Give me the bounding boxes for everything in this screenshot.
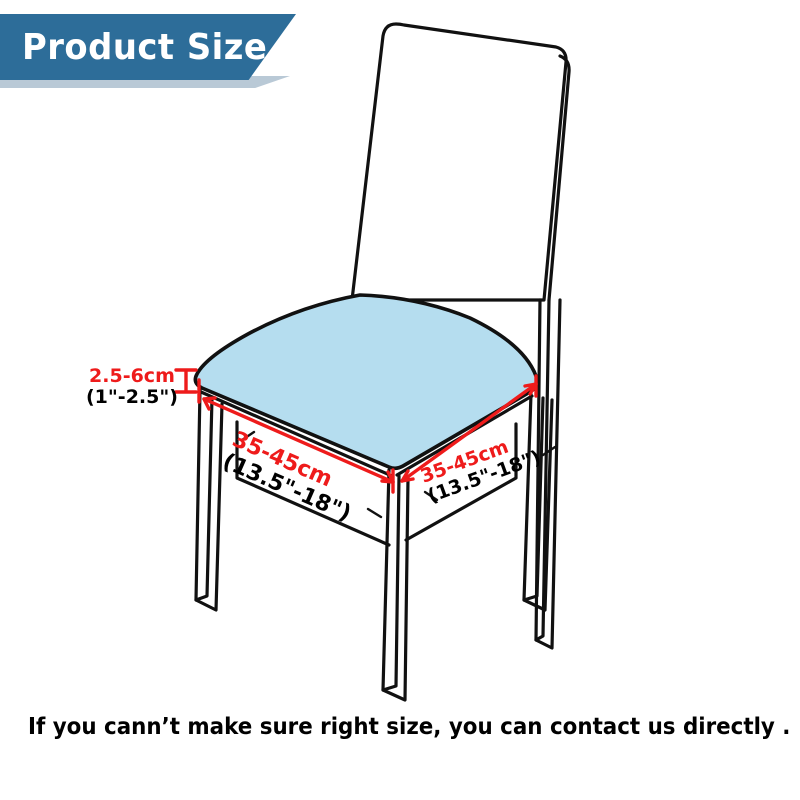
thickness-caliper (176, 370, 196, 392)
thickness-cm-value: 2.5-6cm (86, 366, 178, 387)
chair-backrest-inner-edge (549, 56, 569, 300)
contact-caption: If you cann’t make sure right size, you … (28, 714, 772, 740)
chair-backrest-outline (352, 24, 566, 300)
dimension-label-seat-thickness: 2.5-6cm (1"-2.5") (86, 366, 178, 407)
product-size-infographic: Product Size (0, 0, 800, 800)
width-left-leader-2 (368, 509, 381, 517)
thickness-inch-value: (1"-2.5") (86, 387, 178, 408)
